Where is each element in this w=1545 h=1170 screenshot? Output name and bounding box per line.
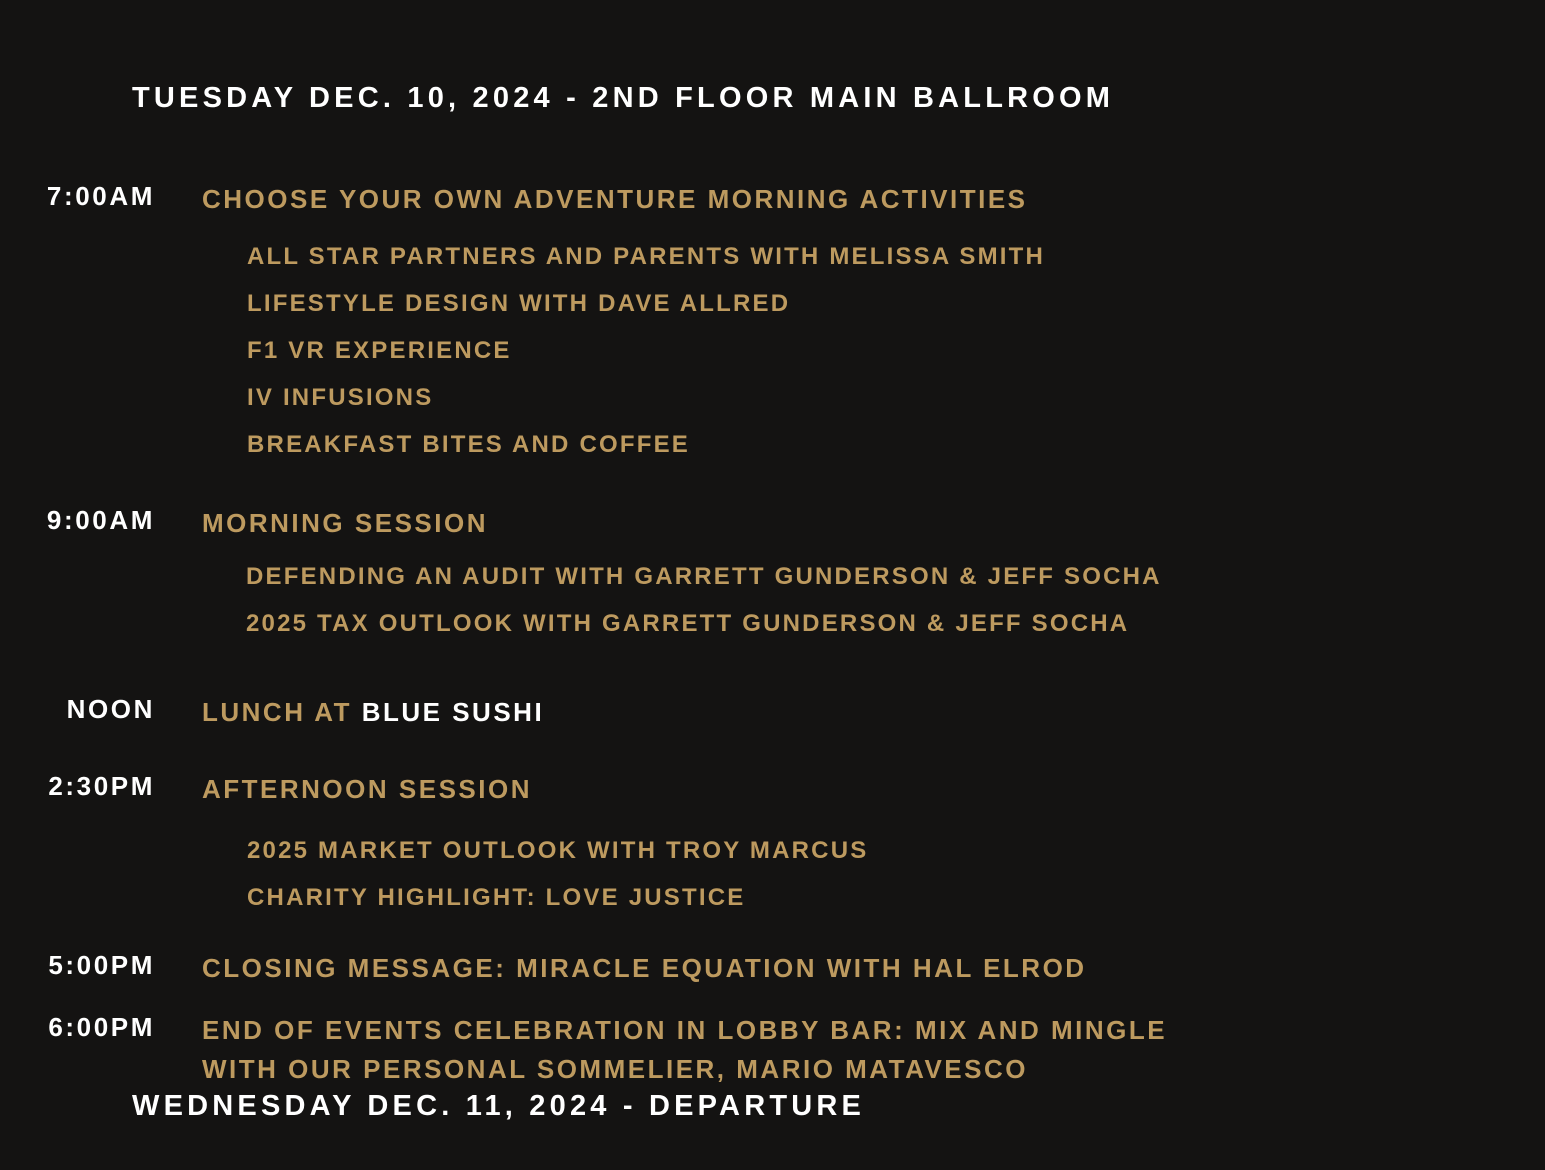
list-item: CHARITY HIGHLIGHT: LOVE JUSTICE [247,874,1212,921]
schedule-title: MORNING SESSION [202,504,1212,543]
agenda-page: TUESDAY DEC. 10, 2024 - 2ND FLOOR MAIN B… [0,0,1545,1170]
schedule-sub-list: ALL STAR PARTNERS AND PARENTS WITH MELIS… [202,233,1212,468]
schedule-title-prefix: LUNCH AT [202,697,362,727]
schedule-body: END OF EVENTS CELEBRATION IN LOBBY BAR: … [155,1011,1212,1089]
day-heading-tuesday: TUESDAY DEC. 10, 2024 - 2ND FLOOR MAIN B… [132,82,1114,115]
day-heading-wednesday: WEDNESDAY DEC. 11, 2024 - DEPARTURE [132,1090,865,1123]
schedule-time: 2:30PM [0,770,155,802]
list-item: IV INFUSIONS [247,374,1212,421]
schedule-time: 9:00AM [0,504,155,536]
schedule-time: 6:00PM [0,1011,155,1043]
schedule-title-venue: BLUE SUSHI [362,697,544,727]
schedule-body: LUNCH AT BLUE SUSHI [155,693,1212,732]
schedule-block: 6:00PM END OF EVENTS CELEBRATION IN LOBB… [0,1011,1545,1089]
schedule-title: CLOSING MESSAGE: MIRACLE EQUATION WITH H… [202,949,1212,988]
list-item: LIFESTYLE DESIGN WITH DAVE ALLRED [247,280,1212,327]
schedule-sub-list: DEFENDING AN AUDIT WITH GARRETT GUNDERSO… [202,553,1212,647]
schedule-block: 5:00PM CLOSING MESSAGE: MIRACLE EQUATION… [0,949,1545,988]
schedule-time: NOON [0,693,155,725]
schedule-block: 7:00AM CHOOSE YOUR OWN ADVENTURE MORNING… [0,180,1545,468]
schedule-list: 7:00AM CHOOSE YOUR OWN ADVENTURE MORNING… [0,180,1545,1089]
schedule-time: 5:00PM [0,949,155,981]
schedule-sub-list: 2025 MARKET OUTLOOK WITH TROY MARCUS CHA… [202,827,1212,921]
schedule-block: NOON LUNCH AT BLUE SUSHI [0,693,1545,732]
schedule-body: MORNING SESSION DEFENDING AN AUDIT WITH … [155,504,1212,647]
schedule-block: 2:30PM AFTERNOON SESSION 2025 MARKET OUT… [0,770,1545,921]
schedule-title: AFTERNOON SESSION [202,770,1212,809]
list-item: F1 VR EXPERIENCE [247,327,1212,374]
schedule-title: LUNCH AT BLUE SUSHI [202,693,1212,732]
list-item: ALL STAR PARTNERS AND PARENTS WITH MELIS… [247,233,1212,280]
schedule-title: END OF EVENTS CELEBRATION IN LOBBY BAR: … [202,1011,1212,1089]
schedule-title: CHOOSE YOUR OWN ADVENTURE MORNING ACTIVI… [202,180,1212,219]
schedule-time: 7:00AM [0,180,155,212]
list-item: 2025 TAX OUTLOOK WITH GARRETT GUNDERSON … [246,600,1212,647]
schedule-body: CHOOSE YOUR OWN ADVENTURE MORNING ACTIVI… [155,180,1212,468]
schedule-body: CLOSING MESSAGE: MIRACLE EQUATION WITH H… [155,949,1212,988]
schedule-block: 9:00AM MORNING SESSION DEFENDING AN AUDI… [0,504,1545,647]
list-item: DEFENDING AN AUDIT WITH GARRETT GUNDERSO… [246,553,1212,600]
list-item: 2025 MARKET OUTLOOK WITH TROY MARCUS [247,827,1212,874]
list-item: BREAKFAST BITES AND COFFEE [247,421,1212,468]
schedule-body: AFTERNOON SESSION 2025 MARKET OUTLOOK WI… [155,770,1212,921]
